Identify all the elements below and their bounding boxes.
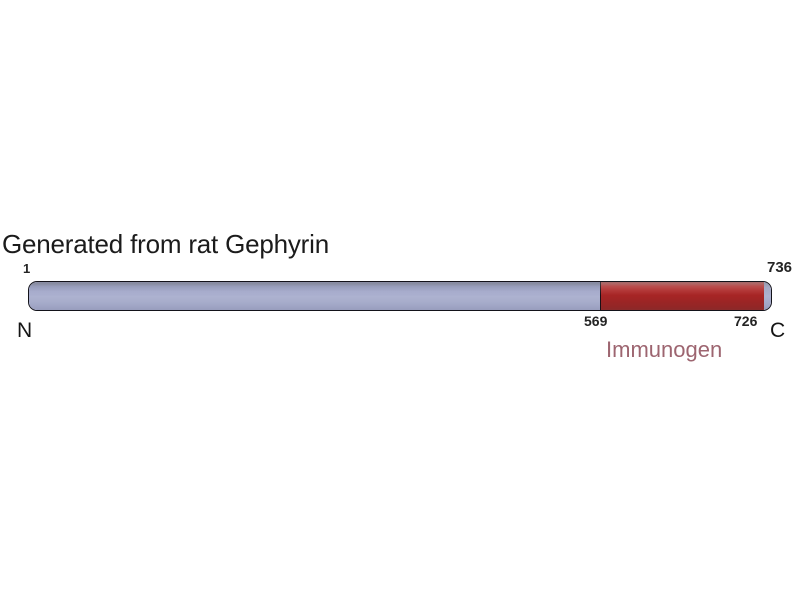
backbone-outline [28,281,772,311]
position-label-start: 1 [23,262,30,276]
backbone-tail-segment [764,282,771,310]
immunogen-caption: Immunogen [606,338,722,362]
position-label-immunogen-end: 726 [734,314,757,328]
protein-domain-diagram: Generated from rat Gephyrin 1 736 569 72… [0,0,800,600]
figure-title: Generated from rat Gephyrin [2,230,329,258]
c-terminus-label: C [770,320,785,342]
n-terminus-label: N [17,320,32,342]
immunogen-segment [600,282,764,310]
backbone-segment [29,282,600,310]
position-label-end: 736 [767,261,792,275]
protein-backbone-bar [28,281,772,311]
position-label-immunogen-start: 569 [584,314,607,328]
